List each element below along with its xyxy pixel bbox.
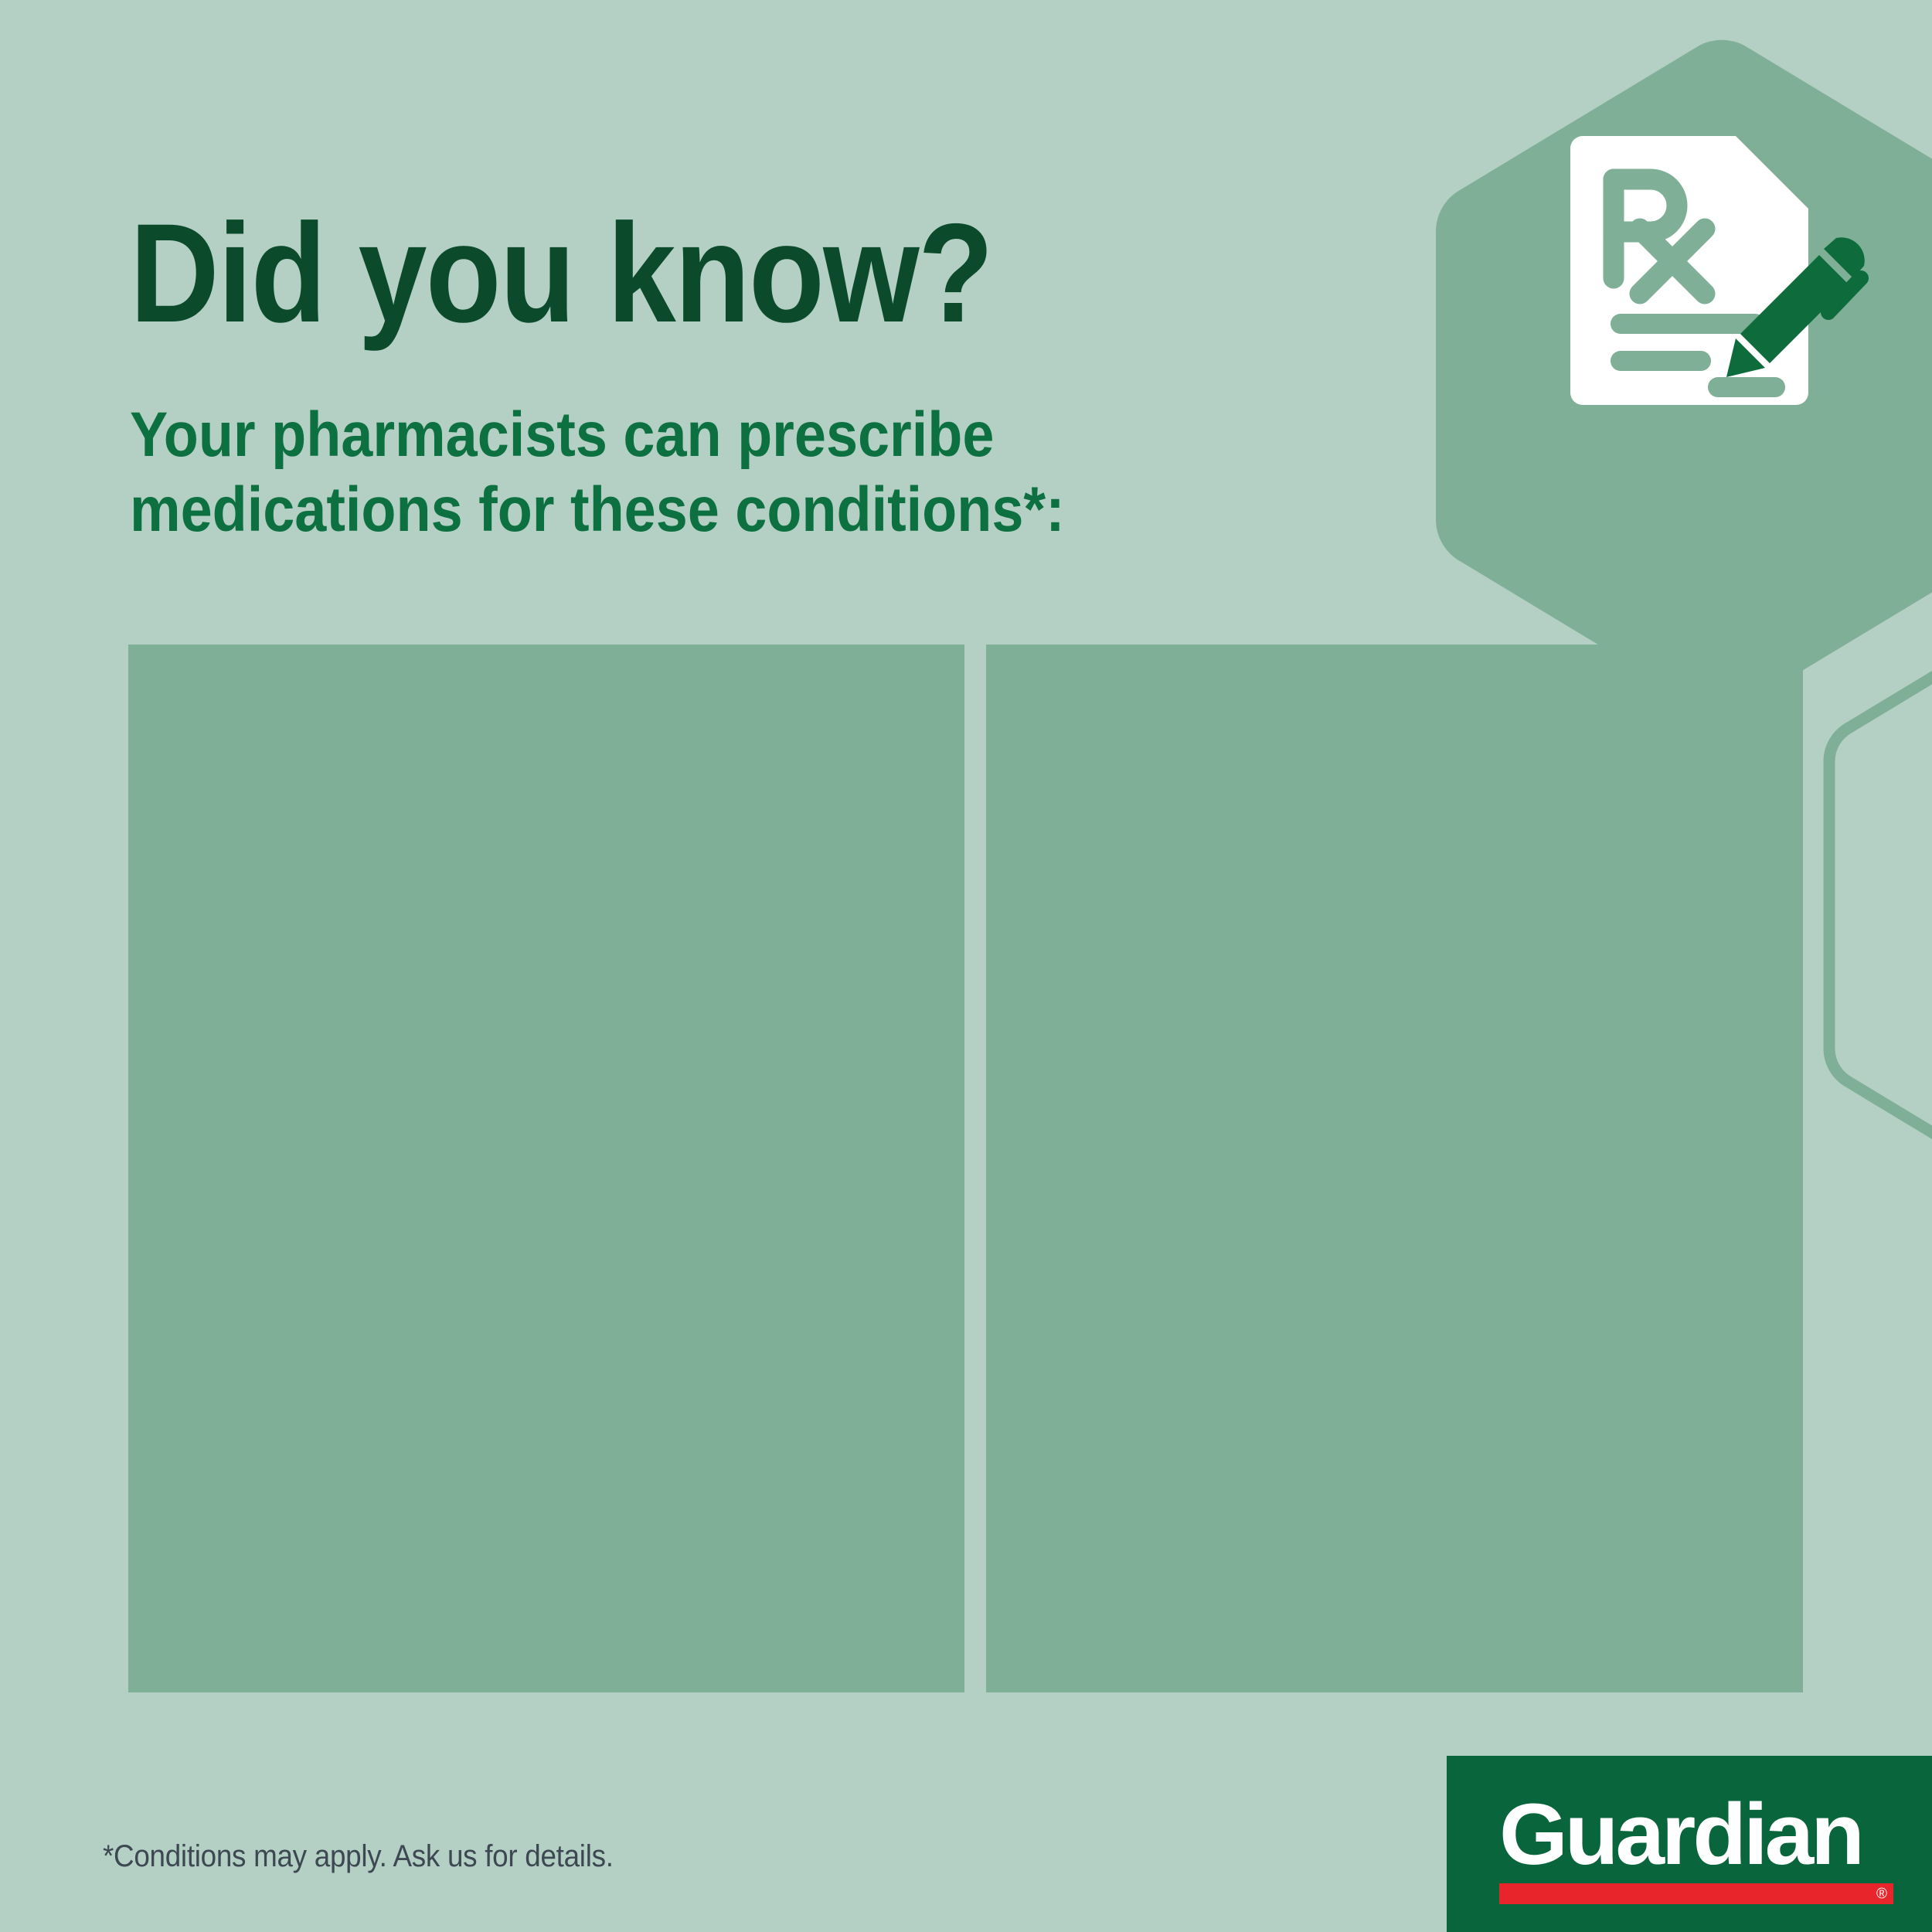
document-signature-line: [1708, 377, 1785, 397]
prescription-document-icon: [1553, 131, 1878, 456]
guardian-wordmark: Guardian: [1499, 1794, 1901, 1874]
content-panel-right: [986, 645, 1803, 1692]
outline-hexagon: [1829, 579, 1932, 1230]
subheading: Your pharmacists can prescribe medicatio…: [130, 398, 1312, 548]
subheading-line-2: medications for these conditions*:: [130, 473, 1312, 548]
poster-canvas: Did you know? Your pharmacists can presc…: [0, 0, 1932, 1932]
guardian-logo-inner: Guardian ®: [1499, 1794, 1893, 1904]
page-title: Did you know?: [130, 202, 1218, 343]
document-line-1: [1611, 314, 1765, 334]
subheading-line-1: Your pharmacists can prescribe: [130, 398, 1312, 473]
guardian-red-rule: ®: [1499, 1883, 1893, 1904]
guardian-logo: Guardian ®: [1447, 1756, 1932, 1932]
document-line-2: [1611, 351, 1711, 371]
content-panel-left: [128, 645, 964, 1692]
registered-trademark-mark: ®: [1876, 1886, 1887, 1901]
footnote-disclaimer: *Conditions may apply. Ask us for detail…: [103, 1839, 614, 1874]
